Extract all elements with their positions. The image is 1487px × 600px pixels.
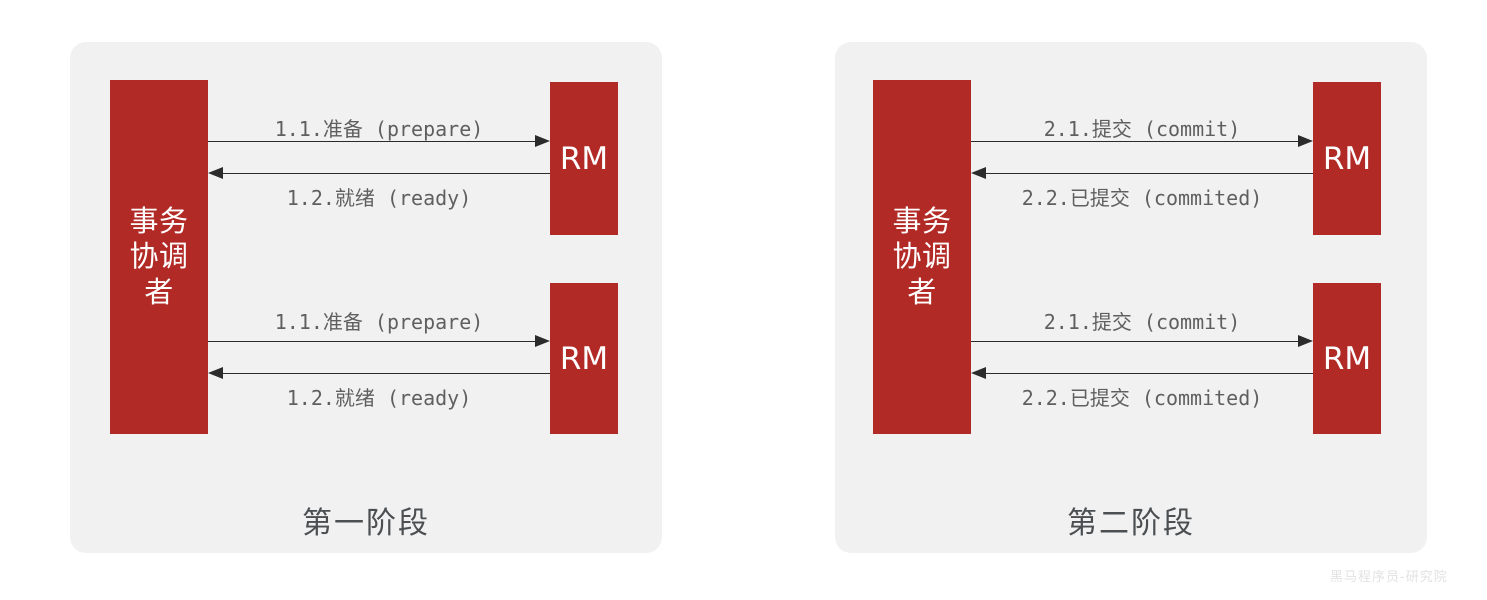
- message-line-response-2: [223, 373, 550, 374]
- coordinator-label: 事务协调者: [888, 204, 956, 310]
- participant-label: RM: [1323, 141, 1371, 177]
- message-label-request-4: 2.1.提交 (commit): [971, 306, 1313, 335]
- arrowhead-response-4: [971, 367, 986, 379]
- arrowhead-response-1: [208, 167, 223, 179]
- participant-label: RM: [560, 341, 608, 377]
- message-line-request-4: [971, 341, 1298, 342]
- message-label-request-2: 1.1.准备 (prepare): [208, 306, 550, 335]
- coordinator-label: 事务协调者: [125, 204, 193, 310]
- panel-phase-two: 事务协调者 RM 2.1.提交 (commit) 2.2.已提交 (commit…: [835, 42, 1427, 553]
- arrowhead-response-3: [971, 167, 986, 179]
- phase-label-one: 第一阶段: [70, 498, 662, 542]
- message-line-response-4: [986, 373, 1313, 374]
- message-line-response-3: [986, 173, 1313, 174]
- message-label-request-3: 2.1.提交 (commit): [971, 113, 1313, 142]
- message-label-response-4: 2.2.已提交 (commited): [971, 382, 1313, 411]
- coordinator-block-phase-two: 事务协调者: [873, 80, 971, 434]
- arrowhead-response-2: [208, 367, 223, 379]
- participant-block-rm-2: RM: [550, 283, 618, 434]
- arrowhead-request-4: [1298, 335, 1313, 347]
- participant-label: RM: [1323, 341, 1371, 377]
- watermark-text: 黑马程序员-研究院: [1330, 566, 1448, 585]
- participant-block-rm-4: RM: [1313, 283, 1381, 434]
- message-label-response-1: 1.2.就绪 (ready): [208, 182, 550, 211]
- phase-label-two: 第二阶段: [835, 498, 1427, 542]
- arrowhead-request-2: [535, 335, 550, 347]
- participant-block-rm-3: RM: [1313, 82, 1381, 235]
- coordinator-block-phase-one: 事务协调者: [110, 80, 208, 434]
- message-label-request-1: 1.1.准备 (prepare): [208, 113, 550, 142]
- diagram-canvas: 事务协调者 RM 1.1.准备 (prepare) 1.2.就绪 (ready)…: [0, 0, 1487, 600]
- message-label-response-3: 2.2.已提交 (commited): [971, 182, 1313, 211]
- participant-label: RM: [560, 141, 608, 177]
- message-line-request-2: [208, 341, 535, 342]
- panel-phase-one: 事务协调者 RM 1.1.准备 (prepare) 1.2.就绪 (ready)…: [70, 42, 662, 553]
- message-line-response-1: [223, 173, 550, 174]
- participant-block-rm-1: RM: [550, 82, 618, 235]
- message-label-response-2: 1.2.就绪 (ready): [208, 382, 550, 411]
